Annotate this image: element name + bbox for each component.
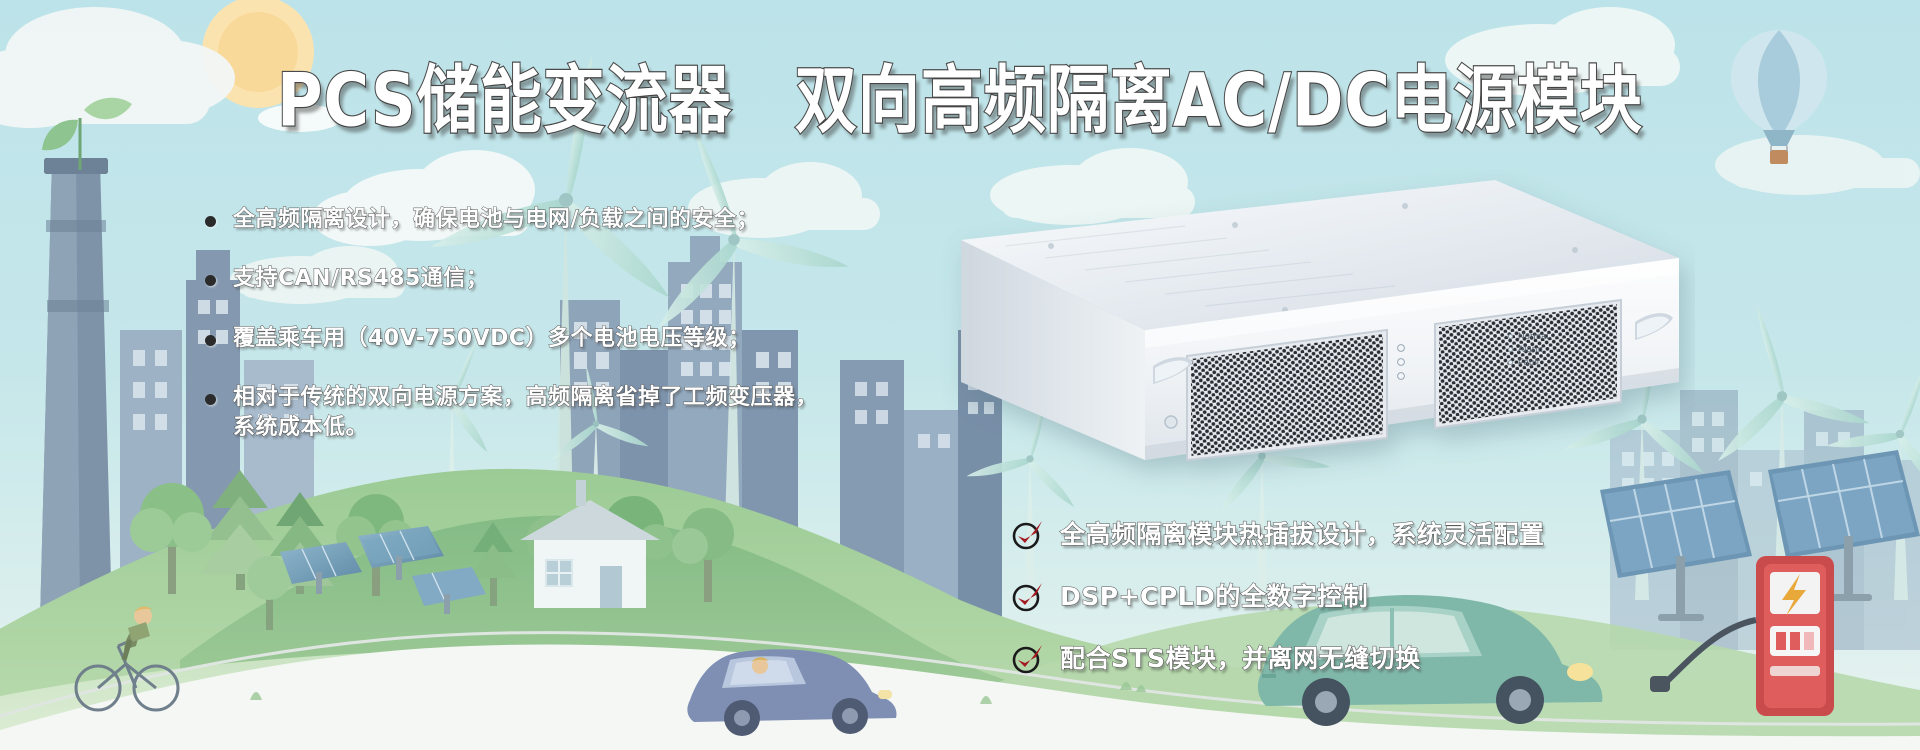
highlight-list: 全高频隔离模块热插拔设计，系统灵活配置 DSP+CPLD的全数字控制 配合STS… <box>1010 515 1750 675</box>
list-item: 覆盖乘车用（40V-750VDC）多个电池电压等级； <box>205 324 965 353</box>
led-dot-icon <box>1508 334 1513 339</box>
led-label-fault: Fault <box>1508 356 1549 369</box>
led-label-text: Fault <box>1518 356 1540 369</box>
check-circle-icon <box>1010 515 1046 551</box>
feature-text: 相对于传统的双向电源方案，高频隔离省掉了工频变压器， 系统成本低。 <box>233 383 818 442</box>
pcs-power-module <box>935 170 1695 500</box>
highlight-text: 全高频隔离模块热插拔设计，系统灵活配置 <box>1060 515 1545 551</box>
led-label-normal: Normal <box>1508 330 1549 343</box>
led-label-text: Normal <box>1518 330 1549 343</box>
check-circle-icon <box>1010 577 1046 613</box>
led-dot-icon <box>1508 347 1513 352</box>
feature-list: 全高频隔离设计，确保电池与电网/负载之间的安全； 支持CAN/RS485通信； … <box>205 205 965 442</box>
highlight-text: DSP+CPLD的全数字控制 <box>1060 577 1368 613</box>
highlight-text: 配合STS模块，并离网无缝切换 <box>1060 639 1421 675</box>
feature-text: 全高频隔离设计，确保电池与电网/负载之间的安全； <box>233 205 759 234</box>
list-item: DSP+CPLD的全数字控制 <box>1010 577 1750 613</box>
list-item: 配合STS模块，并离网无缝切换 <box>1010 639 1750 675</box>
bullet-dot-icon <box>205 335 216 346</box>
list-item: 全高频隔离设计，确保电池与电网/负载之间的安全； <box>205 205 965 234</box>
check-circle-icon <box>1010 639 1046 675</box>
led-label-text: Alarm <box>1518 343 1543 356</box>
feature-text: 覆盖乘车用（40V-750VDC）多个电池电压等级； <box>233 324 751 353</box>
feature-text: 支持CAN/RS485通信； <box>233 264 488 293</box>
led-dot-icon <box>1508 360 1513 365</box>
led-label-list: Normal Alarm Fault <box>1508 330 1549 369</box>
led-label-alarm: Alarm <box>1508 343 1549 356</box>
bullet-dot-icon <box>205 394 216 405</box>
list-item: 全高频隔离模块热插拔设计，系统灵活配置 <box>1010 515 1750 551</box>
list-item: 相对于传统的双向电源方案，高频隔离省掉了工频变压器， 系统成本低。 <box>205 383 965 442</box>
bullet-dot-icon <box>205 216 216 227</box>
bullet-dot-icon <box>205 275 216 286</box>
banner-canvas: Normal Alarm Fault PCS储能变流器 双向高频隔离AC/DC电… <box>0 0 1920 750</box>
list-item: 支持CAN/RS485通信； <box>205 264 965 293</box>
cloud-small-left <box>258 104 342 132</box>
led-indicator-group <box>1398 345 1405 380</box>
